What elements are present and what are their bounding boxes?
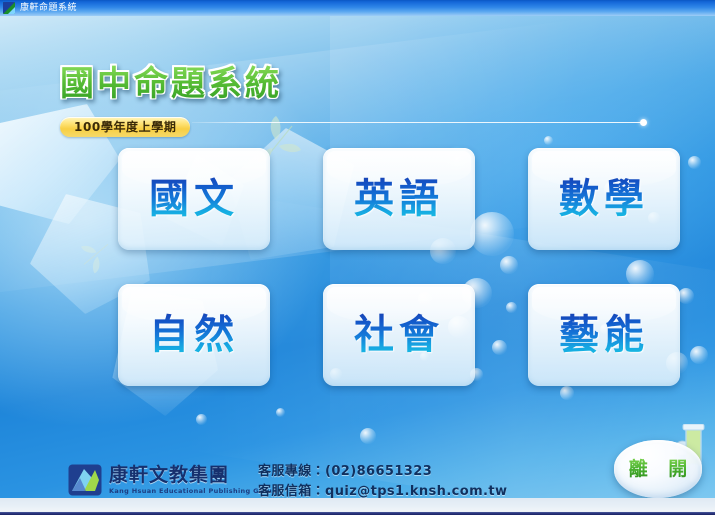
bubble-decoration	[276, 408, 285, 417]
contact-block: 客服專線：(02)86651323 客服信箱：quiz@tps1.knsh.co…	[258, 462, 507, 498]
subject-button-math[interactable]: 數學	[528, 148, 680, 250]
exit-button[interactable]: 離 開	[614, 440, 702, 498]
bubble-decoration	[678, 288, 694, 304]
subject-label: 國文	[149, 175, 239, 223]
exit-button-label: 離 開	[622, 457, 695, 481]
main-stage: 國中命題系統 100學年度上學期 國文 英語 數學 自然 社會 藝能	[0, 16, 715, 498]
subject-label: 數學	[559, 175, 649, 223]
term-badge: 100學年度上學期	[60, 117, 190, 137]
window-title: 康軒命題系統	[20, 0, 77, 16]
page-title: 國中命題系統	[60, 62, 282, 106]
contact-email: 客服信箱：quiz@tps1.knsh.com.tw	[258, 482, 507, 498]
brand-lockup: 康軒文教集團 Kang Hsuan Educational Publishing…	[68, 464, 277, 496]
subject-button-science[interactable]: 自然	[118, 284, 270, 386]
bubble-decoration	[690, 346, 708, 364]
leaf-sprig-icon	[69, 229, 120, 280]
bubble-decoration	[360, 428, 376, 444]
brand-text-block: 康軒文教集團 Kang Hsuan Educational Publishing…	[109, 465, 277, 496]
brand-name-en: Kang Hsuan Educational Publishing Group	[109, 487, 277, 496]
bubble-decoration	[196, 414, 207, 425]
contact-phone: 客服專線：(02)86651323	[258, 462, 507, 482]
application-window: 康軒命題系統	[0, 0, 715, 515]
subject-label: 自然	[149, 311, 239, 359]
window-footer-band	[0, 498, 715, 515]
window-titlebar: 康軒命題系統	[0, 0, 715, 16]
bubble-decoration	[544, 136, 553, 145]
subject-button-chinese[interactable]: 國文	[118, 148, 270, 250]
kanghsuan-logo-icon	[3, 2, 15, 14]
subject-button-social-studies[interactable]: 社會	[323, 284, 475, 386]
subject-label: 藝能	[559, 311, 649, 359]
exit-zone: 離 開	[606, 424, 715, 498]
subject-label: 英語	[354, 175, 444, 223]
bubble-decoration	[688, 156, 701, 169]
subject-button-english[interactable]: 英語	[323, 148, 475, 250]
subject-label: 社會	[354, 311, 444, 359]
kanghsuan-brand-icon	[68, 464, 102, 496]
header-divider	[192, 122, 644, 123]
subject-grid: 國文 英語 數學 自然 社會 藝能	[118, 148, 678, 386]
bubble-decoration	[560, 386, 574, 400]
brand-name-cn: 康軒文教集團	[109, 465, 277, 486]
subject-button-arts[interactable]: 藝能	[528, 284, 680, 386]
header-divider-dot	[640, 119, 647, 126]
